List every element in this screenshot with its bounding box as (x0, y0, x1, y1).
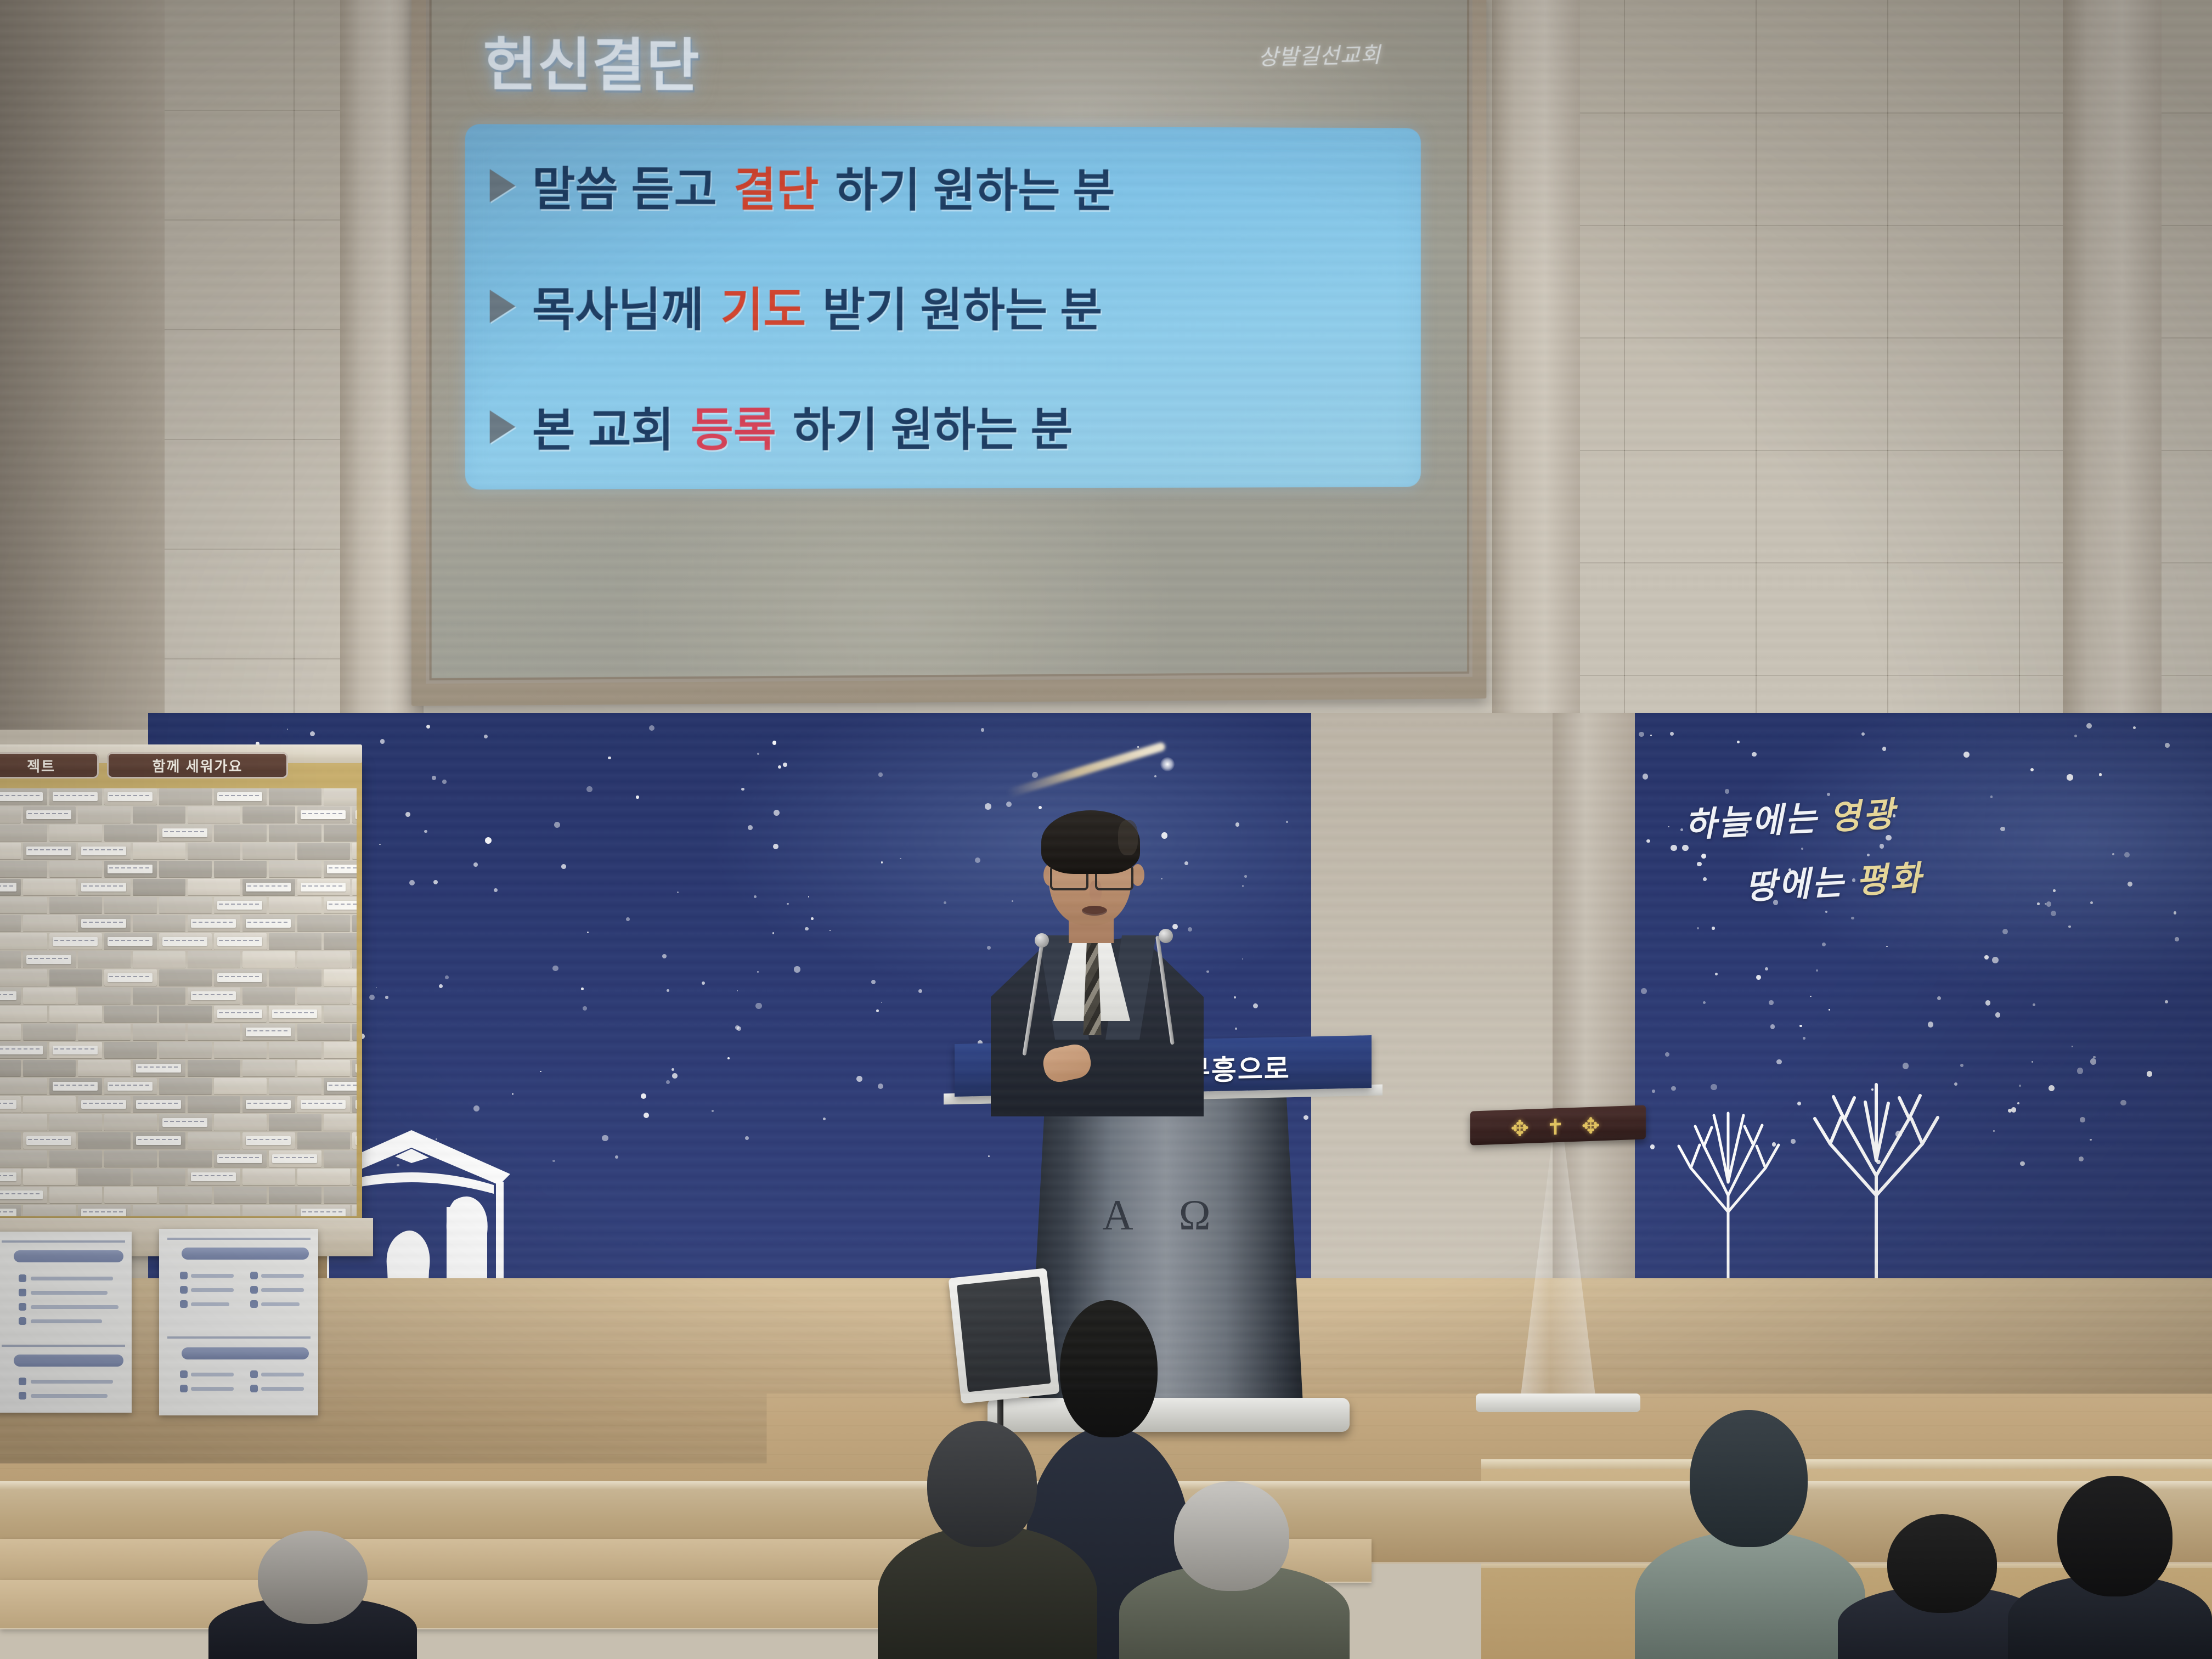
poster-top-left (0, 1232, 132, 1413)
star-icon (1646, 839, 1650, 843)
brick (324, 1187, 357, 1203)
brick (352, 1024, 357, 1040)
brick (324, 1114, 357, 1131)
brick (297, 915, 350, 932)
star-icon (2079, 1156, 2084, 1161)
star-icon (2020, 1161, 2025, 1166)
name-tag (0, 792, 43, 801)
poster-bullet-dot (250, 1286, 258, 1294)
name-tag (246, 1028, 291, 1036)
star-icon (636, 795, 639, 798)
name-tag (108, 973, 153, 982)
star-icon (1992, 957, 1999, 963)
calligraphy-line-1-white: 하늘에는 (1684, 800, 1830, 845)
name-tag (108, 937, 153, 946)
brick (78, 1132, 131, 1149)
brick (159, 1006, 212, 1022)
brick (0, 933, 47, 950)
bullet-3-post: 하기 원하는 분 (793, 393, 1073, 460)
star-icon (445, 975, 449, 979)
board-title-left: 젝트 (0, 752, 99, 778)
brick (104, 1042, 157, 1058)
name-tag (81, 883, 126, 891)
slide-bullet-2: 목사님께 기도 받기 원하는 분 (490, 273, 1102, 340)
brick (269, 1114, 321, 1131)
poster-line (191, 1373, 234, 1376)
star-icon (432, 776, 436, 780)
star-icon (380, 739, 385, 743)
wall-tile (1624, 112, 1757, 226)
brick (49, 1187, 102, 1203)
brick (0, 1024, 21, 1040)
poster-header (14, 1355, 123, 1367)
name-tag (136, 1136, 181, 1145)
wall-tile (1624, 450, 1757, 563)
star-icon (748, 825, 753, 830)
brick (49, 897, 102, 913)
brick (133, 951, 185, 968)
brick (159, 1078, 212, 1094)
wall-tile (1624, 0, 1757, 114)
star-icon (494, 888, 498, 892)
poster-line (191, 1288, 234, 1292)
brick (214, 861, 267, 877)
star-icon (666, 1080, 670, 1084)
audience-member-6 (208, 1531, 417, 1659)
star-icon (1154, 775, 1156, 777)
star-icon (1712, 927, 1714, 929)
name-tag (108, 865, 153, 873)
brick (104, 1006, 157, 1022)
poster-bullet-dot (250, 1272, 258, 1279)
poster-bullet-dot (19, 1392, 26, 1400)
name-tag (356, 1136, 357, 1145)
calligraphy-line-2-gold: 평화 (1855, 860, 1923, 900)
star-icon (1242, 885, 1244, 887)
star-icon (881, 1002, 882, 1003)
audience-member-3 (1119, 1481, 1350, 1659)
wall-tile (1887, 0, 2020, 114)
head (2057, 1476, 2172, 1596)
poster-line (191, 1387, 234, 1391)
brick (324, 969, 357, 986)
name-tag (136, 1100, 181, 1109)
star-icon (2049, 1085, 2055, 1091)
poster-line (191, 1274, 234, 1278)
star-icon (1650, 1144, 1655, 1149)
brick (159, 788, 212, 805)
poster-bullet-dot (180, 1385, 188, 1392)
brick (0, 915, 21, 932)
star-icon (1769, 1000, 1774, 1005)
brick (242, 1060, 295, 1076)
star-icon (1993, 1130, 1995, 1132)
brick (269, 788, 321, 805)
star-icon (1776, 1059, 1781, 1064)
name-tag (272, 1154, 317, 1163)
brick (133, 1024, 185, 1040)
star-icon (808, 896, 809, 897)
brick (242, 806, 295, 823)
name-tag (81, 1209, 126, 1216)
name-tag (246, 1136, 291, 1145)
star-icon (2165, 743, 2170, 748)
star-icon (2032, 1061, 2033, 1063)
audience-member-7 (620, 1564, 839, 1659)
name-tag (191, 919, 236, 928)
brick (297, 988, 350, 1004)
poster-bullet-dot (19, 1303, 26, 1311)
brick (324, 825, 357, 841)
star-icon (2090, 1058, 2097, 1065)
brick (78, 1060, 131, 1076)
star-icon (2086, 723, 2092, 729)
star-icon (1851, 917, 1854, 919)
brick (78, 1169, 131, 1185)
name-tag (81, 919, 126, 928)
slide-content-box: 말씀 듣고 결단하기 원하는 분 목사님께 기도 받기 원하는 분 본 교회 등… (465, 124, 1421, 489)
brick (104, 897, 157, 913)
microphone-icon-right (1159, 929, 1173, 943)
star-icon (2019, 1085, 2021, 1087)
star-icon (1825, 911, 1827, 913)
wall-tile (1756, 225, 1888, 338)
name-tag (81, 847, 126, 855)
star-icon (641, 1093, 646, 1099)
alpha-omega-symbol: A Ω (1029, 1190, 1303, 1240)
brick (269, 933, 321, 950)
star-icon (1985, 1000, 1991, 1006)
brick (0, 1114, 47, 1131)
board-title-right: 함께 세워가요 (107, 752, 288, 778)
wall-tile (1756, 112, 1888, 226)
star-icon (778, 765, 781, 769)
brick (159, 969, 212, 986)
brick (0, 843, 21, 859)
name-tag (217, 937, 262, 946)
star-icon (876, 1009, 879, 1012)
brick (324, 1042, 357, 1058)
star-icon (554, 822, 560, 828)
star-icon (774, 810, 780, 816)
star-icon (672, 1073, 678, 1079)
brick (324, 788, 357, 805)
star-icon (1960, 1064, 1963, 1067)
star-icon (1752, 752, 1756, 757)
brick (23, 1096, 76, 1113)
brick (352, 915, 357, 932)
hair (1041, 810, 1140, 874)
brick (78, 1024, 131, 1040)
calligraphy-line-1-gold: 영광 (1829, 796, 1897, 837)
star-icon (1715, 973, 1718, 975)
star-icon (745, 1136, 749, 1140)
star-icon (1703, 1001, 1706, 1004)
star-icon (484, 735, 488, 738)
brick (188, 1060, 240, 1076)
star-icon (552, 966, 558, 972)
brick (297, 1169, 350, 1185)
name-tag (53, 937, 98, 946)
poster-line (31, 1380, 113, 1384)
poster-bullet-dot (19, 1289, 26, 1296)
projection-screen-bezel: 헌신결단 상발길선교회 말씀 듣고 결단하기 원하는 분 목사님께 기도 받기 … (426, 0, 1472, 684)
brick (297, 1132, 350, 1149)
star-icon (1822, 943, 1826, 946)
star-icon (2072, 1046, 2073, 1047)
star-icon (1244, 875, 1247, 878)
brick (214, 825, 267, 841)
star-icon (1253, 1003, 1258, 1008)
wall-tile (1756, 562, 1888, 676)
poster-bullet-dot (19, 1378, 26, 1385)
star-icon (409, 880, 415, 885)
name-tag (356, 1100, 357, 1109)
brick (49, 969, 102, 986)
brick (269, 1042, 321, 1058)
star-icon (918, 989, 922, 993)
star-icon (757, 971, 759, 973)
star-icon (433, 880, 438, 884)
wall-tile (1756, 337, 1888, 451)
brick (324, 933, 357, 950)
triangle-bullet-icon (490, 290, 516, 323)
brick (23, 988, 76, 1004)
star-icon (1235, 822, 1240, 827)
star-icon (1928, 1022, 1934, 1028)
brick (104, 1114, 157, 1131)
name-tag (217, 792, 262, 801)
star-icon (1756, 975, 1761, 980)
star-icon (649, 725, 654, 731)
name-tag (301, 1209, 346, 1216)
brick (23, 879, 76, 895)
wall-tile (165, 0, 295, 111)
poster-line (31, 1319, 102, 1323)
brick (269, 825, 321, 841)
star-icon (2037, 902, 2040, 905)
name-tag (81, 1100, 126, 1109)
brick (188, 1132, 240, 1149)
brick (0, 1060, 21, 1076)
star-icon (1829, 1009, 1830, 1011)
star-icon (1861, 732, 1865, 736)
star-icon (787, 903, 788, 905)
winter-tree-icon-right (1794, 1058, 1959, 1302)
name-tag (0, 1046, 43, 1054)
wall-tile (1887, 225, 2020, 338)
brick (23, 1169, 76, 1185)
wall-tile (1624, 225, 1757, 338)
grey-hair-head (1174, 1481, 1289, 1591)
name-tag (162, 937, 207, 946)
brick (23, 1205, 76, 1216)
name-tag (26, 847, 71, 855)
star-icon (1235, 1028, 1237, 1030)
star-icon (1995, 1012, 2001, 1018)
name-tag (191, 991, 236, 1000)
star-icon (310, 731, 315, 736)
brick (242, 843, 295, 859)
poster-bullet-dot (19, 1274, 26, 1282)
poster-rule (167, 1238, 311, 1240)
brick (0, 1006, 47, 1022)
star-icon (2077, 1068, 2084, 1074)
star-icon (1737, 741, 1740, 743)
star-icon (1765, 967, 1768, 970)
brick (188, 1096, 240, 1113)
poster-line (31, 1291, 108, 1295)
star-icon (2165, 1000, 2168, 1003)
triangle-bullet-icon (490, 169, 516, 202)
projection-screen-frame: 헌신결단 상발길선교회 말씀 듣고 결단하기 원하는 분 목사님께 기도 받기 … (411, 0, 1486, 706)
star-icon (737, 990, 738, 991)
brick (78, 988, 131, 1004)
star-icon (783, 763, 787, 767)
star-icon (702, 981, 705, 985)
head (664, 1564, 790, 1659)
star-icon (1803, 1037, 1805, 1040)
poster-top-right (159, 1229, 318, 1415)
poster-header (14, 1250, 123, 1262)
poster-rule (2, 1345, 125, 1347)
star-icon (540, 1071, 541, 1072)
brick (23, 1060, 76, 1076)
slide-bullet-1: 말씀 듣고 결단하기 원하는 분 (490, 152, 1115, 221)
star-icon (2090, 901, 2093, 904)
star-icon (662, 954, 667, 958)
brick (104, 825, 157, 841)
wall-tile (1756, 450, 1888, 563)
star-icon (485, 837, 492, 844)
audience-member-4 (1635, 1410, 1865, 1659)
brick (352, 988, 357, 1004)
name-tag (356, 1064, 357, 1073)
star-icon (1643, 774, 1649, 780)
poster-header (182, 1347, 309, 1359)
brick (214, 1042, 267, 1058)
wall-pillar-far-right (2063, 0, 2162, 730)
star-icon (2090, 1139, 2092, 1141)
star-icon (871, 980, 876, 984)
star-icon (2002, 929, 2008, 934)
name-tag (191, 1172, 236, 1181)
wall-tile (1624, 337, 1757, 451)
star-icon (1697, 927, 1699, 929)
bullet-2-pre: 목사님께 (532, 273, 704, 340)
star-icon (981, 728, 985, 732)
name-tag (53, 1046, 98, 1054)
audience-member-2 (878, 1421, 1097, 1659)
star-icon (439, 984, 443, 988)
brick (49, 1114, 102, 1131)
brick (324, 1150, 357, 1167)
star-icon (677, 891, 679, 893)
name-tag (301, 1100, 346, 1109)
star-icon (379, 844, 380, 845)
bullet-1-post: 하기 원하는 분 (836, 153, 1115, 221)
star-icon (1886, 946, 1887, 947)
name-tag (0, 883, 16, 891)
star-icon (2175, 937, 2179, 941)
wall-tile (1624, 562, 1757, 676)
brick (78, 806, 131, 823)
star-icon (2068, 926, 2071, 928)
star-icon (644, 1113, 649, 1118)
poster-line (261, 1302, 300, 1306)
star-icon (727, 1057, 730, 1059)
poster-rule (167, 1336, 311, 1339)
star-icon (369, 995, 375, 1000)
star-icon (512, 1093, 513, 1094)
star-icon (2008, 1109, 2012, 1113)
star-icon (583, 1006, 587, 1011)
name-tag (108, 792, 153, 801)
lectern-base (1476, 1393, 1640, 1412)
star-icon (1670, 732, 1674, 736)
brick (214, 1187, 267, 1203)
wall-tile (1756, 0, 1888, 114)
name-tag (272, 1009, 317, 1018)
star-icon (442, 780, 446, 783)
star-icon (385, 996, 388, 998)
calligraphy-line-2: 땅에는 평화 (1743, 837, 2174, 909)
poster-bullet-dot (19, 1317, 26, 1325)
brick (133, 988, 185, 1004)
star-icon (1984, 955, 1989, 960)
brick (0, 825, 47, 841)
brick (352, 1205, 357, 1216)
name-tag (0, 1100, 16, 1109)
brick (0, 861, 47, 877)
name-tag (26, 955, 71, 964)
star-icon (1304, 1115, 1308, 1120)
wall-tile (165, 549, 295, 659)
star-icon (830, 930, 831, 931)
brick (188, 843, 240, 859)
calligraphy-block: 하늘에는 영광 땅에는 평화 (1668, 785, 2172, 898)
brick (269, 861, 321, 877)
slide-bullet-3: 본 교회 등록하기 원하는 분 (490, 393, 1073, 460)
mouth (1082, 906, 1107, 916)
star-icon (1242, 958, 1243, 960)
head-with-beanie (1690, 1410, 1808, 1547)
star-icon (1137, 746, 1139, 748)
brick (49, 825, 102, 841)
comet-tail-icon (1006, 741, 1166, 798)
name-tag (53, 1082, 98, 1091)
star-icon (672, 1068, 674, 1071)
brick (78, 951, 131, 968)
star-icon (944, 901, 946, 904)
brick (269, 969, 321, 986)
preacher-figure (982, 798, 1212, 1084)
star-icon (2046, 901, 2052, 907)
brick (352, 879, 357, 895)
brick (159, 1042, 212, 1058)
brick (0, 1132, 21, 1149)
projection-screen-surface: 헌신결단 상발길선교회 말씀 듣고 결단하기 원하는 분 목사님께 기도 받기 … (432, 0, 1467, 678)
brick (23, 1024, 76, 1040)
star-icon (1641, 988, 1647, 994)
name-tag (217, 1154, 262, 1163)
brick (242, 1205, 295, 1216)
brick (242, 1169, 295, 1185)
brick (133, 879, 185, 895)
poster-line (31, 1394, 108, 1398)
lectern-top: ✥ ✝ ✥ (1470, 1105, 1646, 1145)
star-icon (2133, 726, 2136, 729)
